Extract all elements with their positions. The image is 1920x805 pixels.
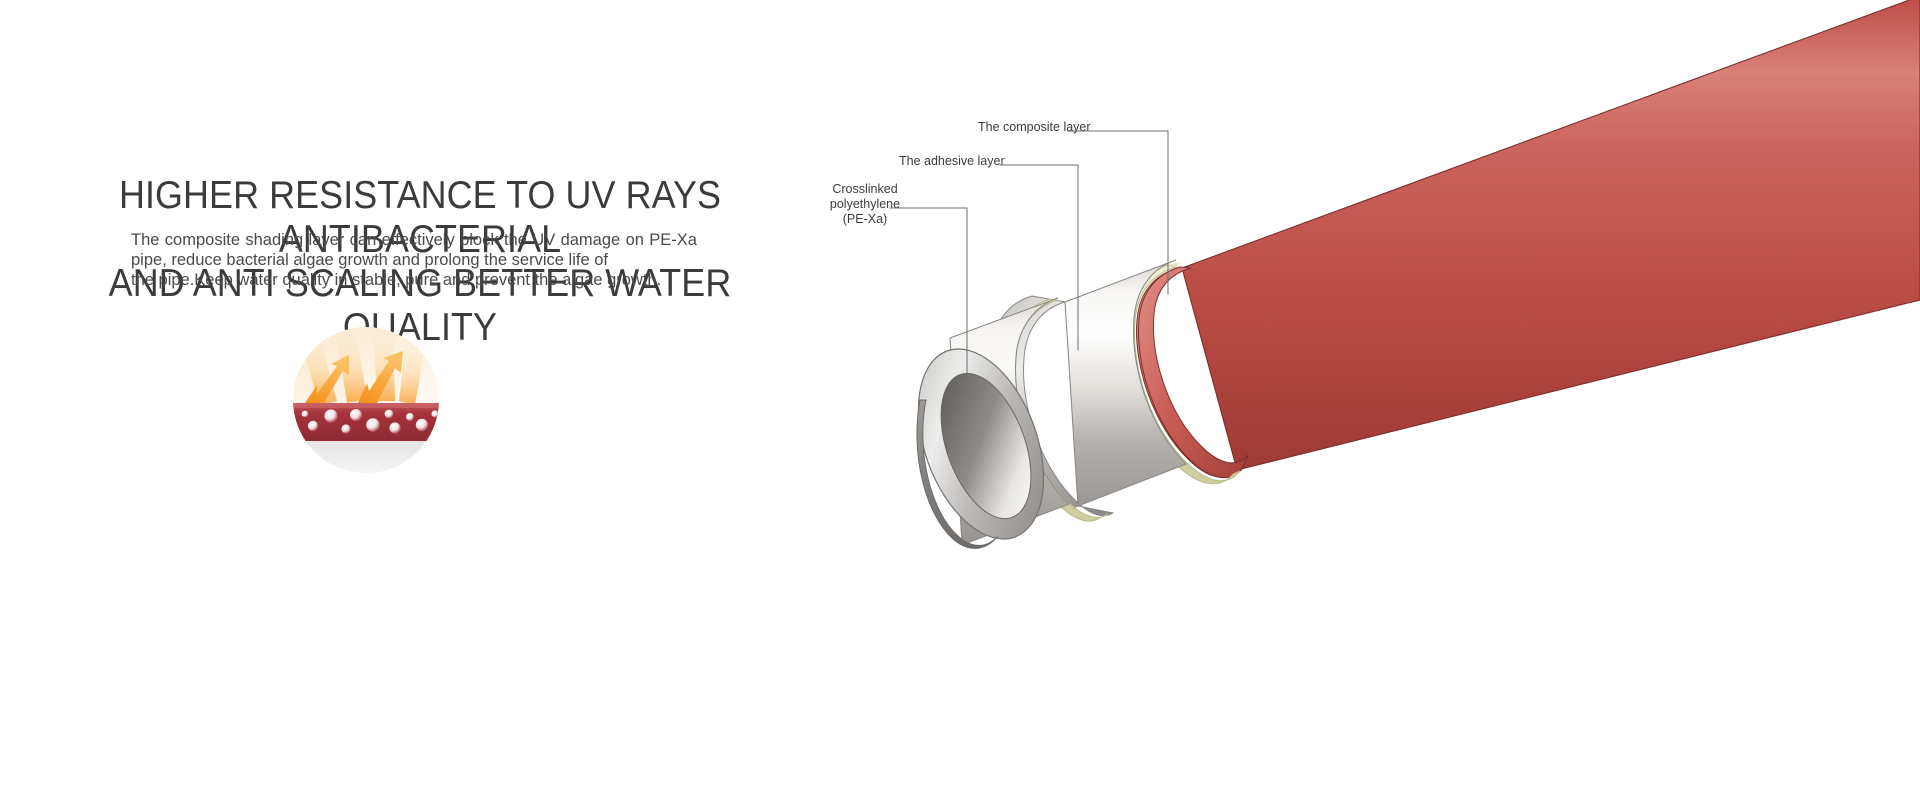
text-column: HIGHER RESISTANCE TO UV RAYS ANTIBACTERI… (0, 0, 840, 800)
description-paragraph: The composite shading layer can effectiv… (131, 230, 697, 290)
page-canvas: HIGHER RESISTANCE TO UV RAYS ANTIBACTERI… (0, 0, 1920, 800)
icon-base-plate (291, 437, 441, 475)
composite-layer (1137, 0, 1920, 478)
description-line-3: the pipe.Keep water quality in stable, p… (131, 270, 697, 290)
pipe-end-face (895, 332, 1068, 556)
multilayer-pexa-pipe-cutaway (790, 0, 1920, 800)
uv-blocking-shield-icon (291, 325, 441, 475)
icon-barrier-highlight (291, 403, 441, 408)
description-line-1: The composite shading layer can effectiv… (131, 231, 644, 249)
